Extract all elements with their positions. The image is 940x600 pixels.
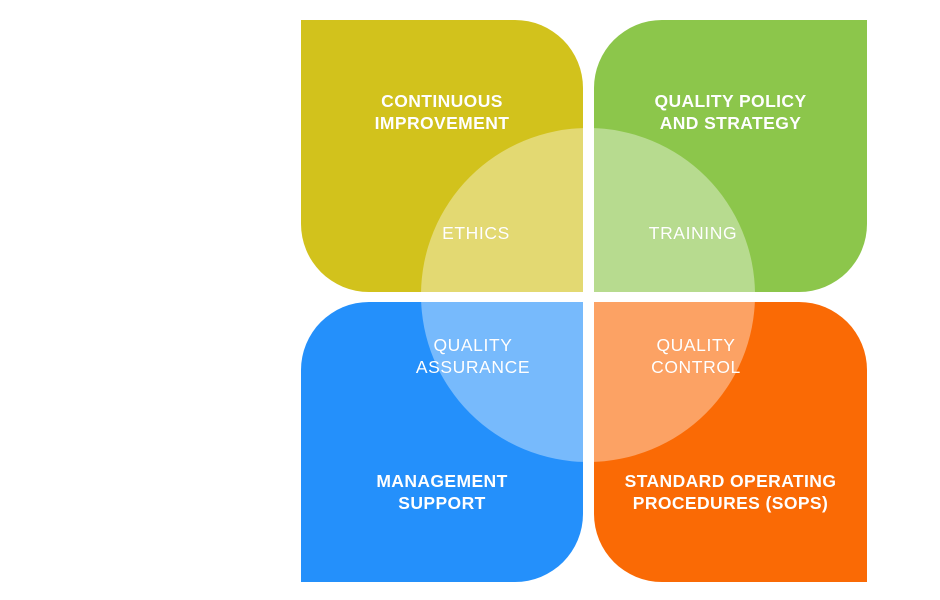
quadrant-top-right-outer-label: QUALITY POLICY AND STRATEGY <box>594 90 867 135</box>
quadrant-bottom-left-outer-label: MANAGEMENT SUPPORT <box>301 470 583 515</box>
quadrant-top-right[interactable]: QUALITY POLICY AND STRATEGY TRAINING <box>594 20 867 292</box>
quadrant-bottom-right-outer-label: STANDARD OPERATING PROCEDURES (SOPS) <box>594 470 867 515</box>
quadrant-top-left-outer-label: CONTINUOUS IMPROVEMENT <box>301 90 583 135</box>
quadrant-bottom-right[interactable]: STANDARD OPERATING PROCEDURES (SOPS) QUA… <box>594 302 867 582</box>
quadrant-top-left-fill <box>301 20 583 292</box>
quadrant-top-left-inner-label: ETHICS <box>391 222 561 244</box>
quadrant-top-right-fill <box>594 20 867 292</box>
diagram-canvas: CONTINUOUS IMPROVEMENT ETHICS QUALITY PO… <box>0 0 940 600</box>
quadrant-top-left[interactable]: CONTINUOUS IMPROVEMENT ETHICS <box>301 20 583 292</box>
quadrant-bottom-right-inner-label: QUALITY CONTROL <box>606 334 786 379</box>
quadrant-top-right-inner-label: TRAINING <box>608 222 778 244</box>
quadrant-bottom-left[interactable]: MANAGEMENT SUPPORT QUALITY ASSURANCE <box>301 302 583 582</box>
quadrant-bottom-left-inner-label: QUALITY ASSURANCE <box>383 334 563 379</box>
